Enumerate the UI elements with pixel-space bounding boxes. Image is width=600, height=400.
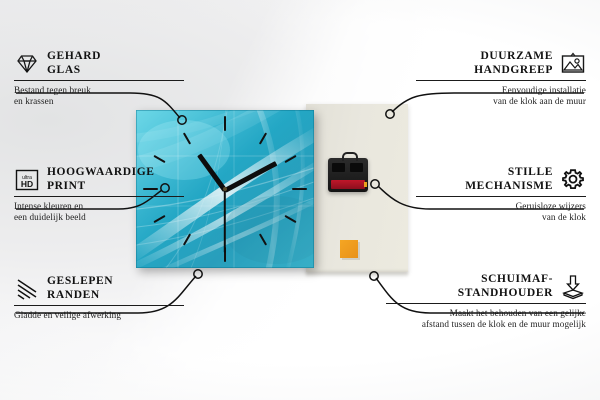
feature-header: DUURZAMEHANDGREEP (416, 50, 586, 77)
feature-divider (14, 80, 184, 81)
feature-description: Eenvoudige installatievan de klok aan de… (416, 85, 586, 107)
feature-description: Intense kleuren eneen duidelijk beeld (14, 201, 184, 223)
feature-divider (14, 196, 184, 197)
mechanism-detail (332, 163, 345, 172)
clock-mechanism (328, 158, 368, 192)
feature-hoogwaardige-print: ultra HD HOOGWAARDIGEPRINT Intense kleur… (14, 166, 184, 223)
spacer-press-icon (560, 274, 586, 300)
feature-stille-mechanisme: STILLEMECHANISME Geruisloze wijzersvan d… (416, 166, 586, 223)
clock-tick (292, 188, 307, 190)
feature-header: STILLEMECHANISME (416, 166, 586, 193)
feature-schuimafstandhouder: SCHUIMAF-STANDHOUDER Maakt het behouden … (386, 273, 586, 330)
feature-header: GEHARDGLAS (14, 50, 184, 77)
picture-frame-icon (560, 51, 586, 77)
feature-gehard-glas: GEHARDGLAS Bestand tegen breuken krassen (14, 50, 184, 107)
diamond-icon (14, 51, 40, 77)
feature-title: STILLEMECHANISME (465, 166, 553, 193)
feature-description: Geruisloze wijzersvan de klok (416, 201, 586, 223)
mechanism-detail (350, 163, 363, 172)
gear-icon (560, 167, 586, 193)
feature-header: ultra HD HOOGWAARDIGEPRINT (14, 166, 184, 193)
feature-title: GESLEPENRANDEN (47, 275, 113, 302)
clock-tick (224, 116, 226, 131)
feature-title: HOOGWAARDIGEPRINT (47, 166, 155, 193)
feature-geslepen-randen: GESLEPENRANDEN Gladde en veilige afwerki… (14, 275, 184, 321)
beveled-edges-icon (14, 276, 40, 302)
second-hand (224, 189, 226, 253)
feature-divider (416, 196, 586, 197)
feature-header: GESLEPENRANDEN (14, 275, 184, 302)
feature-description: Maakt het behouden van een gelijkeafstan… (386, 308, 586, 330)
feature-divider (14, 305, 184, 306)
feature-header: SCHUIMAF-STANDHOUDER (386, 273, 586, 300)
feature-title: DUURZAMEHANDGREEP (474, 50, 553, 77)
battery (331, 180, 365, 189)
infographic-canvas: GEHARDGLAS Bestand tegen breuken krassen… (0, 0, 600, 400)
feature-divider (386, 303, 586, 304)
clock-center-pin (223, 187, 227, 191)
mechanism-shaft (342, 152, 358, 161)
ultra-hd-icon: ultra HD (14, 167, 40, 193)
svg-text:HD: HD (21, 179, 33, 189)
feature-duurzame-handgreep: DUURZAMEHANDGREEP Eenvoudige installatie… (416, 50, 586, 107)
foam-spacer (340, 240, 358, 258)
feature-title: SCHUIMAF-STANDHOUDER (458, 273, 553, 300)
feature-description: Bestand tegen breuken krassen (14, 85, 184, 107)
feature-description: Gladde en veilige afwerking (14, 310, 184, 321)
feature-divider (416, 80, 586, 81)
feature-title: GEHARDGLAS (47, 50, 101, 77)
